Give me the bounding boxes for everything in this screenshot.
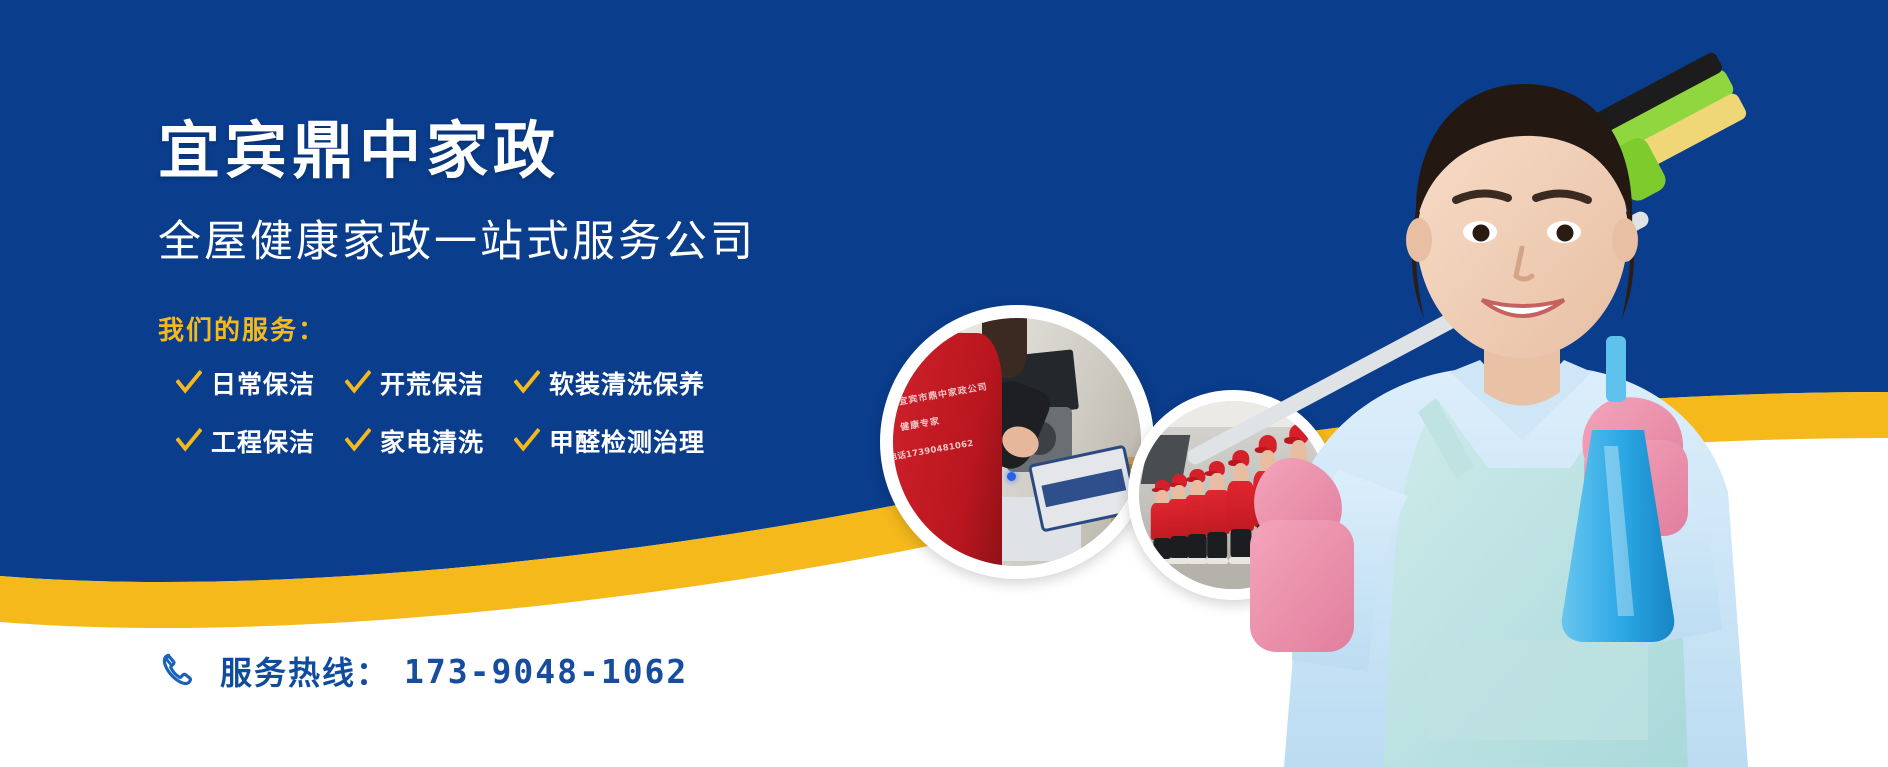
check-icon <box>176 370 202 396</box>
photo-a-scene: 宜宾市鼎中家政公司 健康专家 电话17390481062 <box>893 318 1141 566</box>
hotline-number[interactable]: 173-9048-1062 <box>404 652 688 691</box>
hotline-label: 服务热线： <box>220 648 390 694</box>
homepage-hero-banner: 宜宾鼎中家政 全屋健康家政一站式服务公司 我们的服务： 日常保洁 开荒保洁 <box>0 0 1888 767</box>
service-item-engineering-cleaning[interactable]: 工程保洁 <box>176 423 315 459</box>
phone-icon <box>160 651 200 691</box>
check-icon <box>176 428 202 454</box>
brand-title: 宜宾鼎中家政 <box>158 118 918 183</box>
service-item-appliance-cleaning[interactable]: 家电清洗 <box>345 423 484 459</box>
service-label: 开荒保洁 <box>380 365 484 401</box>
photo-b-image <box>1139 401 1327 589</box>
hotline-block[interactable]: 服务热线： 173-9048-1062 <box>160 648 688 694</box>
team-member <box>1252 435 1284 563</box>
team-lineup-photo[interactable] <box>1128 390 1338 600</box>
service-label: 家电清洗 <box>380 423 484 459</box>
service-row-1: 日常保洁 开荒保洁 软装清洗保养 <box>158 365 918 401</box>
service-item-soft-furnishing-care[interactable]: 软装清洗保养 <box>514 365 705 401</box>
service-item-rough-cleaning[interactable]: 开荒保洁 <box>345 365 484 401</box>
service-item-daily-cleaning[interactable]: 日常保洁 <box>176 365 315 401</box>
check-icon <box>345 370 371 396</box>
service-label: 日常保洁 <box>211 365 315 401</box>
service-item-formaldehyde-treatment[interactable]: 甲醛检测治理 <box>514 423 705 459</box>
photo-b-scene <box>1139 401 1327 589</box>
brand-subtitle: 全屋健康家政一站式服务公司 <box>158 219 918 266</box>
photo-a-image: 宜宾市鼎中家政公司 健康专家 电话17390481062 <box>893 318 1141 566</box>
check-icon <box>514 428 540 454</box>
service-row-2: 工程保洁 家电清洗 甲醛检测治理 <box>158 423 918 459</box>
check-icon <box>514 370 540 396</box>
services-heading: 我们的服务： <box>158 310 918 347</box>
check-icon <box>345 428 371 454</box>
scene-led-indicator <box>1007 472 1016 481</box>
text-content-column: 宜宾鼎中家政 全屋健康家政一站式服务公司 我们的服务： 日常保洁 开荒保洁 <box>158 118 918 459</box>
technician-appliance-photo[interactable]: 宜宾市鼎中家政公司 健康专家 电话17390481062 <box>880 305 1154 579</box>
service-label: 工程保洁 <box>211 423 315 459</box>
service-label: 甲醛检测治理 <box>549 423 705 459</box>
service-label: 软装清洗保养 <box>549 365 705 401</box>
team-member <box>1282 424 1316 563</box>
